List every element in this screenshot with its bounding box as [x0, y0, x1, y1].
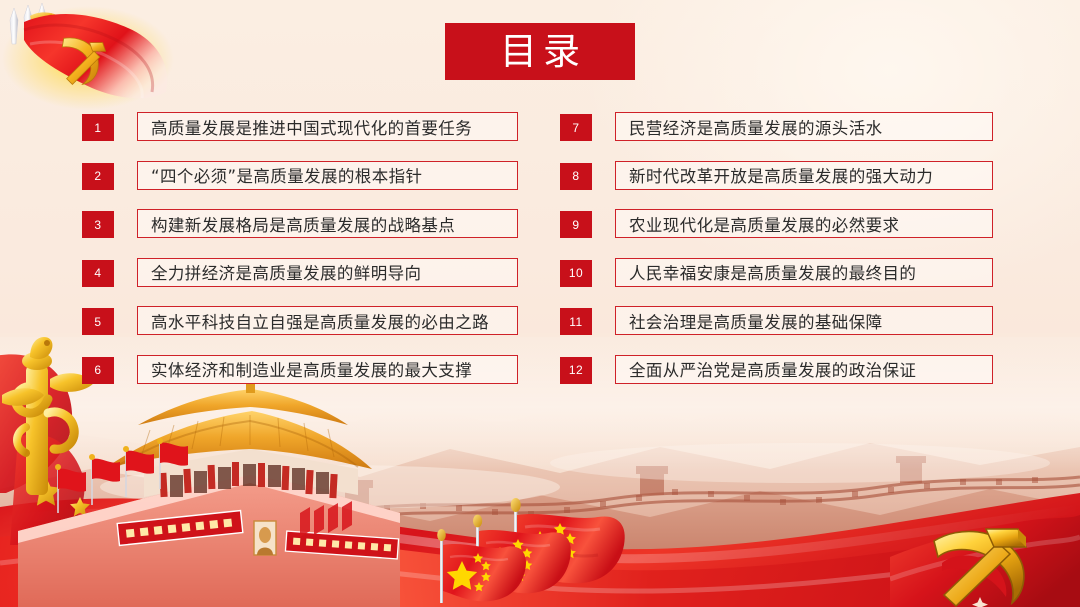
toc-item[interactable]: 2 “四个必须”是高质量发展的根本指针 — [82, 161, 518, 192]
toc-label: 构建新发展格局是高质量发展的战略基点 — [138, 212, 455, 236]
toc-number: 10 — [560, 260, 592, 287]
toc-label: 农业现代化是高质量发展的必然要求 — [616, 212, 899, 236]
chinese-national-flags — [400, 497, 650, 607]
toc-number: 3 — [82, 211, 114, 238]
toc-number: 9 — [560, 211, 592, 238]
communist-party-flag-icon — [0, 0, 210, 122]
toc-column-right: 7 民营经济是高质量发展的源头活水 8 新时代改革开放是高质量发展的强大动力 9… — [560, 112, 993, 403]
toc-label-box[interactable]: 全面从严治党是高质量发展的政治保证 — [615, 355, 993, 384]
toc-label-box[interactable]: 全力拼经济是高质量发展的鲜明导向 — [137, 258, 518, 287]
toc-number: 8 — [560, 163, 592, 190]
toc-label-box[interactable]: 农业现代化是高质量发展的必然要求 — [615, 209, 993, 238]
toc-item[interactable]: 1 高质量发展是推进中国式现代化的首要任务 — [82, 112, 518, 143]
toc-column-left: 1 高质量发展是推进中国式现代化的首要任务 2 “四个必须”是高质量发展的根本指… — [82, 112, 518, 403]
toc-label: 高水平科技自立自强是高质量发展的必由之路 — [138, 309, 489, 333]
toc-item[interactable]: 6 实体经济和制造业是高质量发展的最大支撑 — [82, 355, 518, 386]
toc-item[interactable]: 3 构建新发展格局是高质量发展的战略基点 — [82, 209, 518, 240]
toc-label-box[interactable]: “四个必须”是高质量发展的根本指针 — [137, 161, 518, 190]
toc-label: 社会治理是高质量发展的基础保障 — [616, 309, 883, 333]
toc-item[interactable]: 8 新时代改革开放是高质量发展的强大动力 — [560, 161, 993, 192]
toc-label-box[interactable]: 人民幸福安康是高质量发展的最终目的 — [615, 258, 993, 287]
toc-number: 11 — [560, 308, 592, 335]
toc-label: 人民幸福安康是高质量发展的最终目的 — [616, 260, 916, 284]
slide-canvas: 目录 1 高质量发展是推进中国式现代化的首要任务 2 “四个必须”是高质量发展的… — [0, 0, 1080, 607]
toc-label: 新时代改革开放是高质量发展的强大动力 — [616, 163, 933, 187]
gate-portrait — [254, 521, 276, 555]
toc-label-box[interactable]: 民营经济是高质量发展的源头活水 — [615, 112, 993, 141]
page-title-banner: 目录 — [445, 23, 635, 80]
page-title: 目录 — [494, 33, 586, 70]
toc-item[interactable]: 4 全力拼经济是高质量发展的鲜明导向 — [82, 258, 518, 289]
toc-number: 7 — [560, 114, 592, 141]
toc-number: 12 — [560, 357, 592, 384]
toc-label: 高质量发展是推进中国式现代化的首要任务 — [138, 115, 472, 139]
toc-label: 民营经济是高质量发展的源头活水 — [616, 115, 883, 139]
toc-number: 6 — [82, 357, 114, 384]
toc-item[interactable]: 7 民营经济是高质量发展的源头活水 — [560, 112, 993, 143]
toc-item[interactable]: 11 社会治理是高质量发展的基础保障 — [560, 306, 993, 337]
party-hammer-sickle-emblem-icon — [890, 495, 1080, 607]
toc-label-box[interactable]: 高质量发展是推进中国式现代化的首要任务 — [137, 112, 518, 141]
toc-item[interactable]: 9 农业现代化是高质量发展的必然要求 — [560, 209, 993, 240]
toc-label: 实体经济和制造业是高质量发展的最大支撑 — [138, 357, 472, 381]
toc-label-box[interactable]: 实体经济和制造业是高质量发展的最大支撑 — [137, 355, 518, 384]
toc-item[interactable]: 5 高水平科技自立自强是高质量发展的必由之路 — [82, 306, 518, 337]
toc-number: 4 — [82, 260, 114, 287]
toc-number: 1 — [82, 114, 114, 141]
toc-label: 全力拼经济是高质量发展的鲜明导向 — [138, 260, 421, 284]
toc-item[interactable]: 10 人民幸福安康是高质量发展的最终目的 — [560, 258, 993, 289]
toc-number: 5 — [82, 308, 114, 335]
toc-number: 2 — [82, 163, 114, 190]
toc-label-box[interactable]: 构建新发展格局是高质量发展的战略基点 — [137, 209, 518, 238]
toc-item[interactable]: 12 全面从严治党是高质量发展的政治保证 — [560, 355, 993, 386]
toc-label-box[interactable]: 社会治理是高质量发展的基础保障 — [615, 306, 993, 335]
toc-label-box[interactable]: 高水平科技自立自强是高质量发展的必由之路 — [137, 306, 518, 335]
toc-label: “四个必须”是高质量发展的根本指针 — [138, 163, 422, 187]
toc-label: 全面从严治党是高质量发展的政治保证 — [616, 357, 916, 381]
toc-label-box[interactable]: 新时代改革开放是高质量发展的强大动力 — [615, 161, 993, 190]
